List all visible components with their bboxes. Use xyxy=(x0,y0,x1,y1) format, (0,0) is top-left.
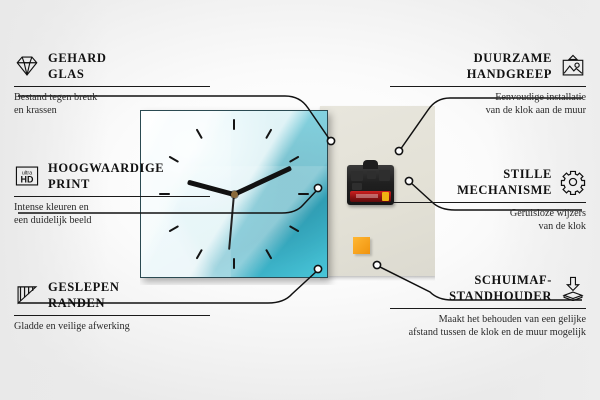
feature-title-line1: STILLE xyxy=(457,166,552,182)
feature-divider xyxy=(390,86,586,87)
feature-schuimafstandhouder: SCHUIMAF- STANDHOUDER Maakt het behouden… xyxy=(390,272,586,340)
feature-divider xyxy=(390,308,586,309)
feature-desc-line1: Intense kleuren en xyxy=(14,201,210,214)
mechanism-detail xyxy=(352,183,362,190)
feature-description: Intense kleuren en een duidelijk beeld xyxy=(14,201,210,228)
feature-title-line1: HOOGWAARDIGE xyxy=(48,160,164,176)
feature-title-line2: RANDEN xyxy=(48,295,120,311)
feature-divider xyxy=(14,196,210,197)
feature-desc-line1: Eenvoudige installatie xyxy=(390,91,586,104)
feature-description: Bestand tegen breuk en krassen xyxy=(14,91,210,118)
infographic-canvas: GEHARD GLAS Bestand tegen breuk en krass… xyxy=(0,0,600,400)
feature-desc-line2: afstand tussen de klok en de muur mogeli… xyxy=(390,326,586,339)
feature-description: Eenvoudige installatie van de klok aan d… xyxy=(390,91,586,118)
feature-header: ultra HD HOOGWAARDIGE PRINT xyxy=(14,160,210,192)
feature-title-line1: DUURZAME xyxy=(467,50,552,66)
clock-mechanism xyxy=(347,165,394,205)
feature-title: GEHARD GLAS xyxy=(48,50,106,82)
feature-header: SCHUIMAF- STANDHOUDER xyxy=(390,272,586,304)
feature-hoogwaardige-print: ultra HD HOOGWAARDIGE PRINT Intense kleu… xyxy=(14,160,210,228)
feature-duurzame-handgreep: DUURZAME HANDGREEP Eenvoudige installati… xyxy=(390,50,586,118)
feature-title: SCHUIMAF- STANDHOUDER xyxy=(449,272,552,304)
feature-desc-line1: Gladde en veilige afwerking xyxy=(14,320,210,333)
mechanism-detail xyxy=(379,170,390,181)
feature-title-line2: MECHANISME xyxy=(457,182,552,198)
mechanism-detail xyxy=(367,171,376,179)
battery-plus-terminal xyxy=(382,192,389,201)
feature-divider xyxy=(14,315,210,316)
feature-header: STILLE MECHANISME xyxy=(390,166,586,198)
feature-header: GESLEPEN RANDEN xyxy=(14,279,210,311)
feature-title-line2: HANDGREEP xyxy=(467,66,552,82)
clock-center-pin xyxy=(231,191,238,198)
gear-icon xyxy=(560,169,586,195)
feature-desc-line1: Geruisloze wijzers xyxy=(390,207,586,220)
feature-description: Gladde en veilige afwerking xyxy=(14,320,210,333)
feature-header: DUURZAME HANDGREEP xyxy=(390,50,586,82)
clock-tick xyxy=(233,119,235,130)
feature-title-line2: STANDHOUDER xyxy=(449,288,552,304)
clock-tick xyxy=(298,193,309,195)
feature-desc-line1: Maakt het behouden van een gelijke xyxy=(390,313,586,326)
feature-divider xyxy=(14,86,210,87)
clock-tick xyxy=(233,258,235,269)
feature-title: GESLEPEN RANDEN xyxy=(48,279,120,311)
feature-geslepen-randen: GESLEPEN RANDEN Gladde en veilige afwerk… xyxy=(14,279,210,333)
feature-gehard-glas: GEHARD GLAS Bestand tegen breuk en krass… xyxy=(14,50,210,118)
feature-stille-mechanisme: STILLE MECHANISME Geruisloze wijzers van… xyxy=(390,166,586,234)
feature-divider xyxy=(390,202,586,203)
svg-text:HD: HD xyxy=(21,175,34,185)
foam-spacer xyxy=(353,237,370,254)
feature-title-line2: GLAS xyxy=(48,66,106,82)
feature-desc-line1: Bestand tegen breuk xyxy=(14,91,210,104)
feature-description: Maakt het behouden van een gelijke afsta… xyxy=(390,313,586,340)
mechanism-hanger xyxy=(363,160,378,169)
beveled-edges-icon xyxy=(14,282,40,308)
feature-title-line1: GEHARD xyxy=(48,50,106,66)
feature-desc-line2: van de klok aan de muur xyxy=(390,104,586,117)
feature-title: STILLE MECHANISME xyxy=(457,166,552,198)
feature-title: DUURZAME HANDGREEP xyxy=(467,50,552,82)
feature-title: HOOGWAARDIGE PRINT xyxy=(48,160,164,192)
feature-title-line2: PRINT xyxy=(48,176,164,192)
feature-desc-line2: en krassen xyxy=(14,104,210,117)
diamond-icon xyxy=(14,53,40,79)
picture-frame-icon xyxy=(560,53,586,79)
feature-title-line1: SCHUIMAF- xyxy=(449,272,552,288)
feature-description: Geruisloze wijzers van de klok xyxy=(390,207,586,234)
feature-header: GEHARD GLAS xyxy=(14,50,210,82)
battery-label xyxy=(356,194,378,198)
mechanism-battery xyxy=(350,191,391,202)
feature-desc-line2: van de klok xyxy=(390,220,586,233)
ultra-hd-icon: ultra HD xyxy=(14,163,40,189)
feature-title-line1: GESLEPEN xyxy=(48,279,120,295)
feature-desc-line2: een duidelijk beeld xyxy=(14,214,210,227)
mechanism-detail xyxy=(351,171,363,181)
spacer-press-icon xyxy=(560,275,586,301)
